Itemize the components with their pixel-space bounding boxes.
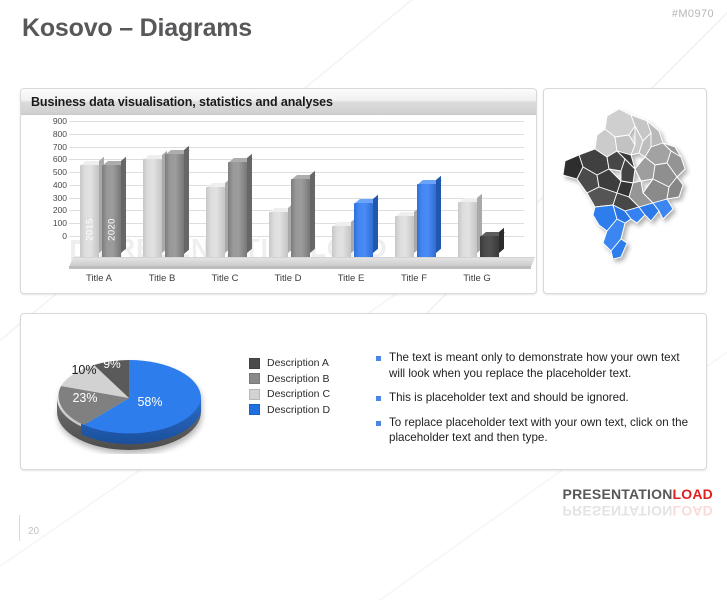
bar-front-face bbox=[458, 202, 477, 257]
bar-front-face bbox=[291, 179, 310, 257]
brand-reflection-presentation: PRESENTATION bbox=[563, 503, 673, 519]
bar-chart-panel: Business data visualisation, statistics … bbox=[20, 88, 537, 294]
bar[interactable]: 2015 bbox=[80, 165, 99, 257]
bar[interactable]: 2020 bbox=[102, 165, 121, 257]
bar-front-face bbox=[332, 226, 351, 257]
x-axis-label: Title A bbox=[86, 273, 112, 284]
bar-side-face bbox=[121, 157, 126, 253]
x-axis-labels: Title ATitle BTitle CTitle DTitle ETitle… bbox=[69, 273, 531, 289]
bar-front-face bbox=[417, 184, 436, 257]
pie-label-9: 9% bbox=[103, 357, 121, 371]
legend-item[interactable]: Description D bbox=[249, 404, 330, 416]
bar-front-face bbox=[228, 162, 247, 257]
bar-side-face bbox=[184, 145, 189, 253]
y-axis-tick: 0 bbox=[62, 231, 67, 241]
legend-label: Description D bbox=[267, 404, 330, 416]
bullet-text: To replace placeholder text with your ow… bbox=[389, 415, 691, 446]
y-axis-tick: 800 bbox=[53, 129, 67, 139]
bullet-item: This is placeholder text and should be i… bbox=[376, 390, 691, 406]
brand-logo: PRESENTATIONLOAD PRESENTATIONLOAD bbox=[563, 486, 713, 519]
legend-label: Description A bbox=[267, 357, 329, 369]
bar-series-group: 20152020 bbox=[76, 142, 531, 257]
bar-group: 20152020 bbox=[78, 142, 141, 257]
bar-side-face bbox=[310, 171, 315, 253]
kosovo-map[interactable] bbox=[555, 99, 695, 284]
y-axis: 9008007006005004003002001000 bbox=[21, 115, 71, 267]
pie-chart: 58% 23% 10% 9% bbox=[39, 336, 229, 451]
x-axis-label: Title C bbox=[211, 273, 238, 284]
pie-and-text-panel: 58% 23% 10% 9% Description ADescription … bbox=[20, 313, 707, 470]
bar-side-face bbox=[436, 176, 441, 253]
pie-label-10: 10% bbox=[71, 363, 96, 377]
y-axis-tick: 300 bbox=[53, 193, 67, 203]
bullet-item: To replace placeholder text with your ow… bbox=[376, 415, 691, 446]
legend-swatch bbox=[249, 404, 260, 415]
bar[interactable] bbox=[458, 202, 477, 257]
x-axis-label: Title B bbox=[149, 273, 176, 284]
page-number-rule bbox=[19, 515, 20, 541]
bar-side-face bbox=[499, 228, 504, 253]
legend-label: Description C bbox=[267, 388, 330, 400]
x-axis-label: Title G bbox=[463, 273, 491, 284]
brand-text-load: LOAD bbox=[673, 486, 713, 502]
legend-item[interactable]: Description A bbox=[249, 357, 330, 369]
legend-swatch bbox=[249, 358, 260, 369]
panel-header-bar: Business data visualisation, statistics … bbox=[21, 89, 536, 115]
bullet-list: The text is meant only to demonstrate ho… bbox=[376, 350, 691, 455]
map-panel bbox=[543, 88, 707, 294]
page-title: Kosovo – Diagrams bbox=[22, 14, 252, 43]
legend-item[interactable]: Description B bbox=[249, 373, 330, 385]
bar[interactable] bbox=[354, 203, 373, 257]
bar-group bbox=[330, 142, 393, 257]
bar-group bbox=[141, 142, 204, 257]
bar-front-face bbox=[354, 203, 373, 257]
bar[interactable] bbox=[228, 162, 247, 257]
bar-inline-label: 2015 bbox=[84, 218, 95, 241]
bar-front-face bbox=[143, 159, 162, 257]
bar-front-face bbox=[395, 216, 414, 257]
brand-reflection-load: LOAD bbox=[673, 503, 713, 519]
bar-front-face bbox=[80, 165, 99, 257]
y-axis-tick: 200 bbox=[53, 205, 67, 215]
bar-chart: PRESENTATIONLOAD 90080070060050040030020… bbox=[21, 115, 537, 294]
bar[interactable] bbox=[395, 216, 414, 257]
pie-label-58: 58% bbox=[137, 395, 162, 409]
bar[interactable] bbox=[269, 212, 288, 257]
bullet-text: This is placeholder text and should be i… bbox=[389, 390, 629, 406]
bar[interactable] bbox=[417, 184, 436, 257]
x-axis-label: Title D bbox=[274, 273, 301, 284]
bar-side-face bbox=[247, 154, 252, 253]
panel-header-title: Business data visualisation, statistics … bbox=[31, 95, 333, 109]
bar[interactable] bbox=[206, 187, 225, 257]
bullet-marker-icon bbox=[376, 396, 381, 401]
bar-group bbox=[267, 142, 330, 257]
bullet-marker-icon bbox=[376, 356, 381, 361]
bar[interactable] bbox=[165, 154, 184, 258]
bar-group bbox=[204, 142, 267, 257]
bar-group bbox=[456, 142, 519, 257]
bar-front-face bbox=[269, 212, 288, 257]
gridline bbox=[69, 134, 524, 135]
document-id: #M0970 bbox=[672, 8, 714, 20]
bar[interactable] bbox=[332, 226, 351, 257]
legend-label: Description B bbox=[267, 373, 329, 385]
pie-chart-svg[interactable]: 58% 23% 10% 9% bbox=[39, 336, 229, 454]
y-axis-tick: 700 bbox=[53, 142, 67, 152]
bar-side-face bbox=[373, 195, 378, 253]
x-axis-label: Title E bbox=[338, 273, 365, 284]
legend-swatch bbox=[249, 373, 260, 384]
y-axis-tick: 900 bbox=[53, 116, 67, 126]
y-axis-tick: 600 bbox=[53, 154, 67, 164]
bar[interactable] bbox=[480, 236, 499, 257]
bar-front-face bbox=[206, 187, 225, 257]
gridline bbox=[69, 121, 524, 122]
legend-swatch bbox=[249, 389, 260, 400]
x-axis-label: Title F bbox=[401, 273, 427, 284]
legend-item[interactable]: Description C bbox=[249, 388, 330, 400]
bar[interactable] bbox=[291, 179, 310, 257]
y-axis-tick: 100 bbox=[53, 218, 67, 228]
bullet-text: The text is meant only to demonstrate ho… bbox=[389, 350, 691, 381]
bullet-marker-icon bbox=[376, 421, 381, 426]
chart-floor-front bbox=[69, 266, 531, 269]
pie-slice-d-top bbox=[129, 360, 201, 398]
bar-front-face bbox=[165, 154, 184, 258]
y-axis-tick: 400 bbox=[53, 180, 67, 190]
page-number: 20 bbox=[28, 526, 39, 537]
y-axis-tick: 500 bbox=[53, 167, 67, 177]
bar-front-face bbox=[480, 236, 499, 257]
pie-label-23: 23% bbox=[72, 391, 97, 405]
bar-inline-label: 2020 bbox=[106, 218, 117, 241]
bar-group bbox=[393, 142, 456, 257]
bullet-item: The text is meant only to demonstrate ho… bbox=[376, 350, 691, 381]
bar[interactable] bbox=[143, 159, 162, 257]
pie-legend: Description ADescription BDescription CD… bbox=[249, 357, 330, 419]
bar-front-face bbox=[102, 165, 121, 257]
brand-text-presentation: PRESENTATION bbox=[563, 486, 673, 502]
